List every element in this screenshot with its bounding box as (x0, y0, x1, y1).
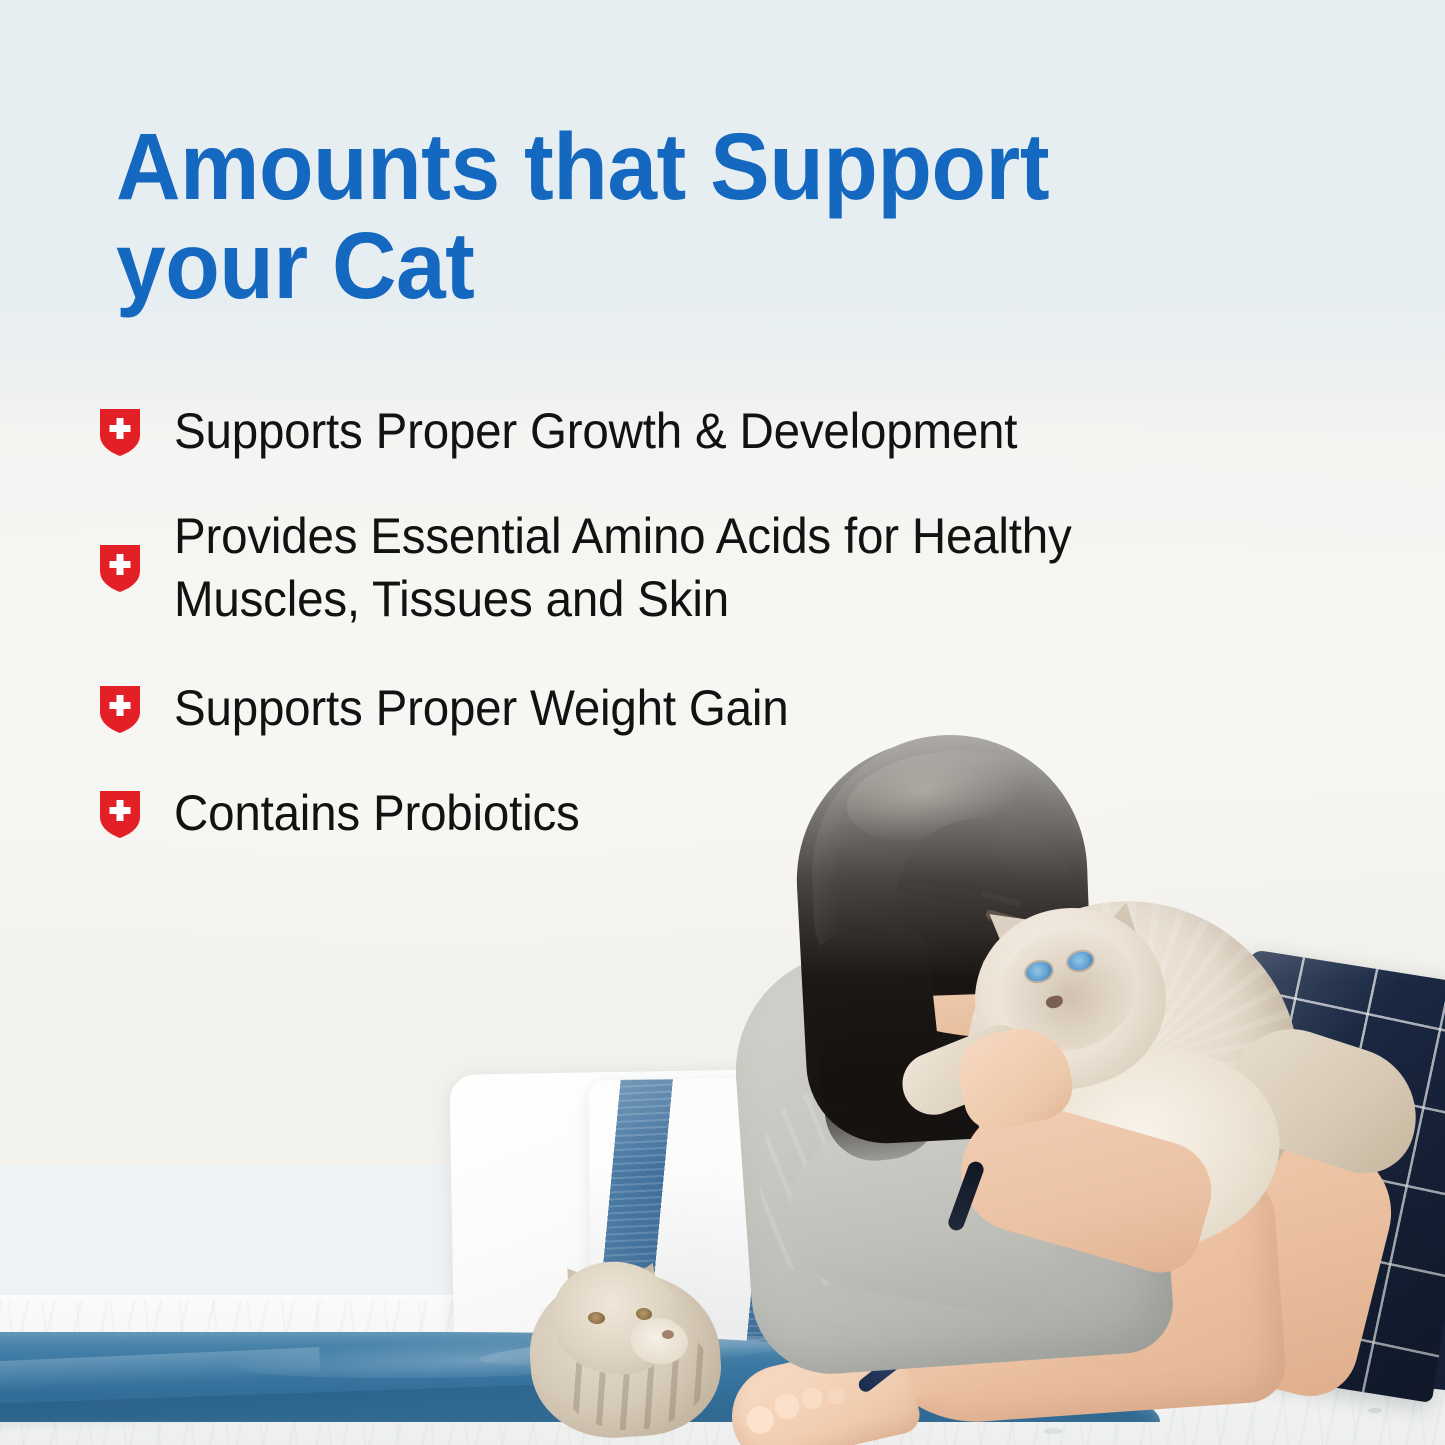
benefit-item: Supports Proper Growth & Development (98, 400, 1298, 463)
benefit-label: Provides Essential Amino Acids for Healt… (174, 505, 1072, 631)
benefit-label: Supports Proper Growth & Development (174, 400, 1017, 463)
benefit-label: Contains Probiotics (174, 782, 580, 845)
shield-plus-icon (98, 684, 142, 734)
benefit-item: Provides Essential Amino Acids for Healt… (98, 505, 1298, 631)
benefit-item: Supports Proper Weight Gain (98, 677, 1298, 740)
shield-plus-icon (98, 407, 142, 457)
shield-plus-icon (98, 543, 142, 593)
benefit-label: Supports Proper Weight Gain (174, 677, 788, 740)
content-layer: Amounts that Support your Cat Supports P… (0, 0, 1445, 1445)
page-title: Amounts that Support your Cat (116, 118, 1225, 316)
product-benefits-graphic: Amounts that Support your Cat Supports P… (0, 0, 1445, 1445)
shield-plus-icon (98, 789, 142, 839)
benefits-list: Supports Proper Growth & Development Pro… (98, 400, 1298, 845)
benefit-item: Contains Probiotics (98, 782, 1298, 845)
